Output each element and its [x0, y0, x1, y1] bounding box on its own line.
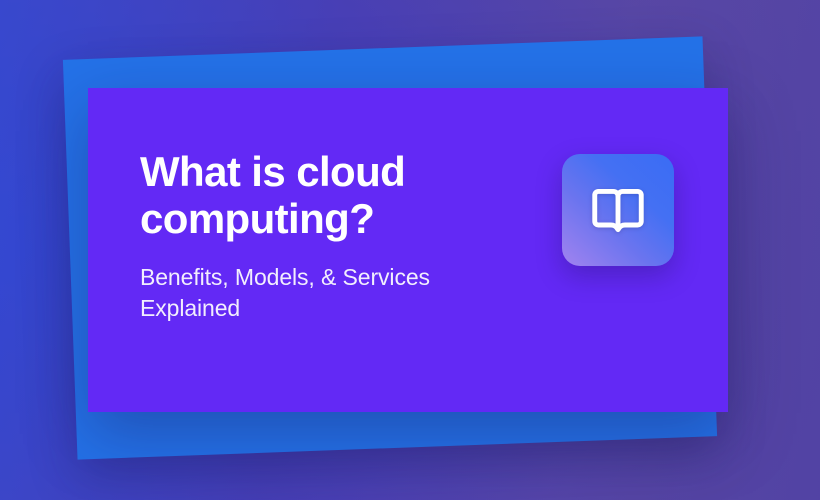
open-book-icon	[587, 179, 649, 241]
icon-tile	[562, 154, 674, 266]
hero-text-column: What is cloud computing? Benefits, Model…	[140, 140, 430, 324]
page-subtitle: Benefits, Models, & Services Explained	[140, 262, 430, 324]
page-title: What is cloud computing?	[140, 148, 430, 242]
banner-stage: What is cloud computing? Benefits, Model…	[0, 0, 820, 500]
hero-card-content: What is cloud computing? Benefits, Model…	[88, 88, 728, 412]
hero-card: What is cloud computing? Benefits, Model…	[88, 88, 728, 412]
